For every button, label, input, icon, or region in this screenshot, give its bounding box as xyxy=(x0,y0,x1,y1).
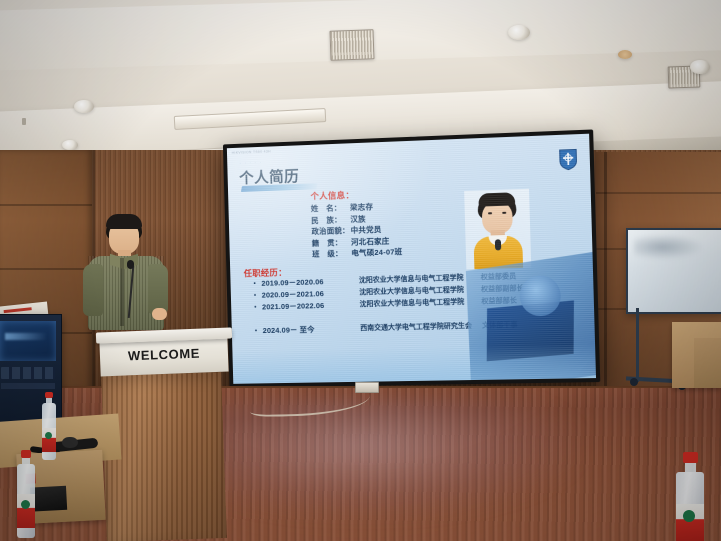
list-bullet: • xyxy=(254,291,256,301)
info-row-class: 班 级：电气硕24-07班 xyxy=(312,247,403,261)
equipment-button-row[interactable] xyxy=(1,367,55,379)
info-value: 汉族 xyxy=(350,214,366,223)
university-shield-logo xyxy=(559,148,578,170)
led-display-screen: HIKVISION TS60 43H · · · · · 个人简历 个人信息： … xyxy=(223,129,600,387)
info-value: 中共党员 xyxy=(351,225,382,235)
podium-welcome-label: WELCOME xyxy=(100,345,228,365)
presentation-slide: HIKVISION TS60 43H · · · · · 个人简历 个人信息： … xyxy=(227,134,596,384)
cardboard-box xyxy=(694,338,721,388)
experience-org: 沈阳农业大学信息与电气工程学院 xyxy=(359,274,464,287)
lecture-hall-photo: HIKVISION TS60 43H · · · · · 个人简历 个人信息： … xyxy=(0,0,721,541)
ceiling-downlight-icon xyxy=(618,50,632,59)
info-key: 班 级： xyxy=(312,248,352,261)
experience-date: 2024.09－ 至今 xyxy=(263,325,315,336)
sprinkler-icon xyxy=(22,118,26,125)
slide-title: 个人简历 xyxy=(239,165,300,188)
mobile-whiteboard xyxy=(626,228,721,314)
ceiling-downlight-icon xyxy=(508,25,530,40)
whiteboard-smudge xyxy=(634,234,704,260)
title-decor-dots: · · · · · xyxy=(240,162,262,165)
info-value: 梁志存 xyxy=(350,202,373,212)
presenter-person xyxy=(82,214,192,344)
experience-org: 西南交通大学电气工程学院研究生会 xyxy=(360,322,472,335)
microphone-icon xyxy=(127,260,134,269)
list-bullet: • xyxy=(254,279,256,289)
water-bottle xyxy=(41,392,57,460)
ceiling-downlight-icon xyxy=(690,60,710,74)
water-bottle xyxy=(16,450,36,538)
experience-date: 2019.09－2020.06 xyxy=(261,277,324,289)
experience-date: 2020.09－2021.06 xyxy=(262,289,325,301)
air-vent-icon xyxy=(329,29,374,61)
personal-info-heading: 个人信息： xyxy=(310,189,354,202)
slide-decorative-wave xyxy=(232,343,596,383)
avatar xyxy=(464,189,531,270)
list-bullet: • xyxy=(255,326,257,336)
experience-date: 2021.09－2022.06 xyxy=(262,301,325,313)
whiteboard-leg xyxy=(636,308,639,382)
experience-org: 沈阳农业大学信息与电气工程学院 xyxy=(359,286,464,299)
screen-surface: HIKVISION TS60 43H · · · · · 个人简历 个人信息： … xyxy=(227,134,596,384)
ceiling-downlight-icon xyxy=(62,140,78,150)
info-value: 河北石家庄 xyxy=(351,236,390,246)
info-value: 电气硕24-07班 xyxy=(351,248,402,258)
experience-org: 沈阳农业大学信息与电气工程学院 xyxy=(360,298,465,311)
personal-info-list: 姓 名：梁志存 民 族：汉族 政治面貌：中共党员 籍 贯：河北石家庄 班 级：电… xyxy=(311,200,403,260)
ceiling-downlight-icon xyxy=(74,100,94,113)
whiteboard-caster-icon xyxy=(630,378,638,386)
computer-mouse xyxy=(62,437,78,448)
equipment-slot xyxy=(1,383,55,389)
equipment-display xyxy=(0,321,56,361)
water-bottle xyxy=(675,452,705,541)
list-bullet: • xyxy=(254,303,256,313)
display-brand-watermark: HIKVISION TS60 43H xyxy=(232,149,271,154)
